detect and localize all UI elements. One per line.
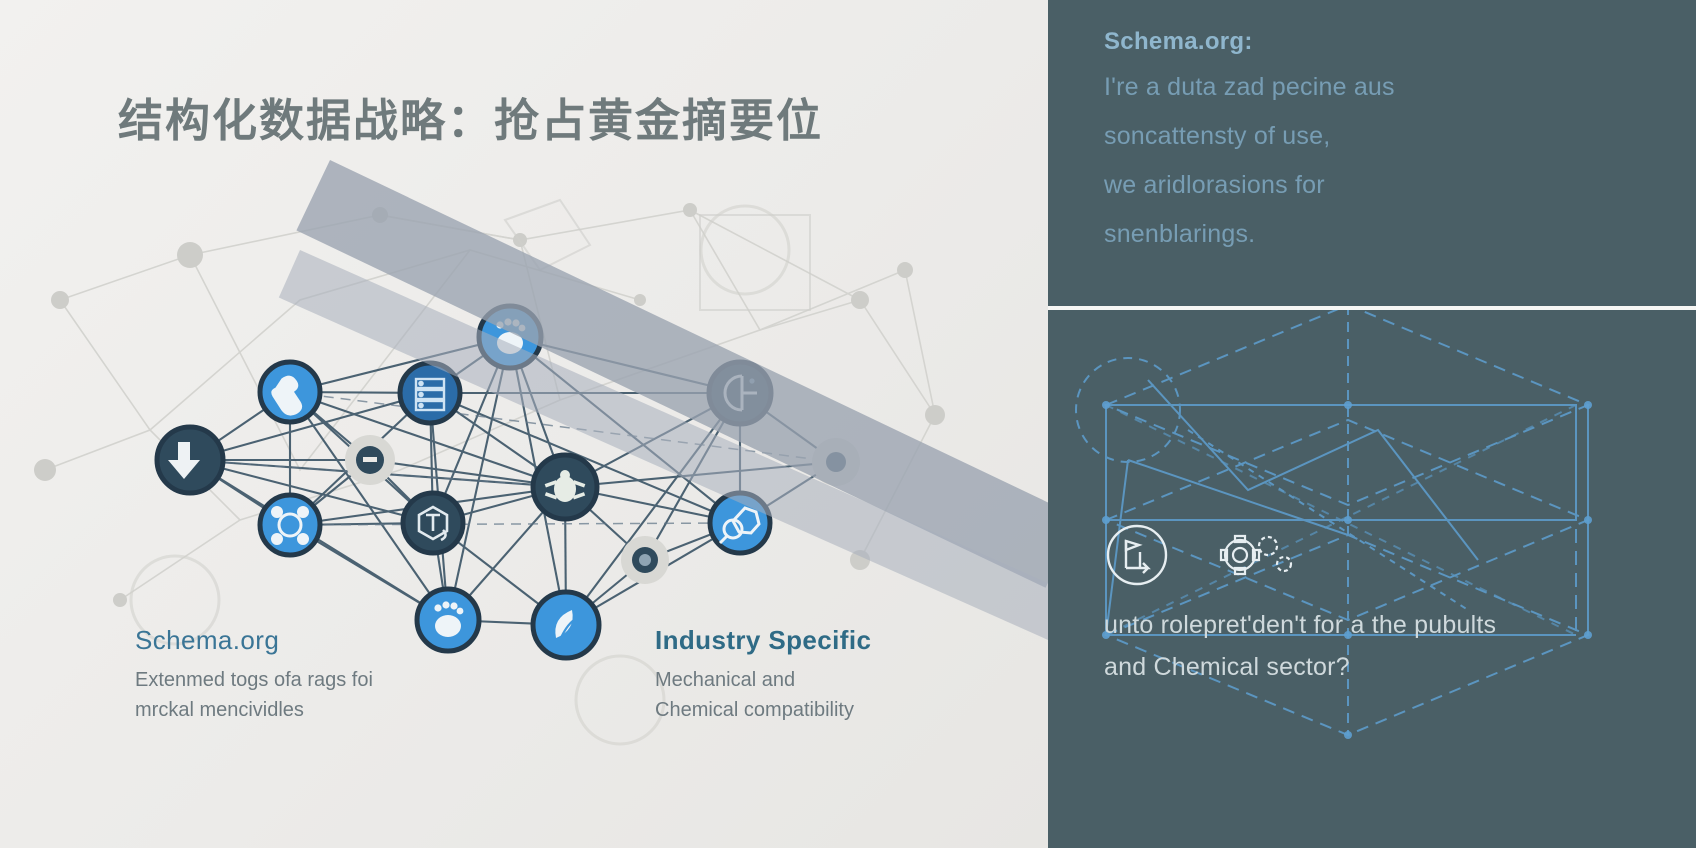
graph-node-paw-print-icon[interactable] bbox=[417, 589, 479, 651]
graph-node-gear-network-icon[interactable] bbox=[260, 495, 320, 555]
graph-node-shield-refresh-icon[interactable] bbox=[403, 493, 463, 553]
graph-node-inactive bbox=[345, 435, 395, 485]
caption-line: mrckal mencividles bbox=[135, 695, 373, 725]
right-panel-bottom: unto rolepret'den't for a the pubults an… bbox=[1048, 310, 1696, 848]
caption-line: Extenmed togs ofa rags foi bbox=[135, 665, 373, 695]
right-column: Schema.org: I're a duta zad pecine aus s… bbox=[1048, 0, 1696, 848]
caption-line: Chemical compatibility bbox=[655, 695, 871, 725]
graph-node-inactive bbox=[621, 536, 669, 584]
caption-industry-specific: Industry Specific Mechanical and Chemica… bbox=[655, 625, 871, 725]
graph-node-bug-icon[interactable] bbox=[533, 455, 597, 519]
graph-node-leaf-icon[interactable] bbox=[533, 592, 599, 658]
caption-heading: Industry Specific bbox=[655, 625, 871, 656]
right-panel-footer: unto rolepret'den't for a the pubults an… bbox=[1104, 608, 1684, 692]
graph-node-download-arrow-icon[interactable] bbox=[157, 427, 223, 493]
body-line: snenblarings. bbox=[1104, 219, 1664, 250]
background-links bbox=[45, 210, 935, 600]
icon-row bbox=[1104, 522, 1302, 588]
right-panel-top: Schema.org: I're a duta zad pecine aus s… bbox=[1048, 0, 1696, 306]
slide-root: 结构化数据战略：抢占黄金摘要位 bbox=[0, 0, 1696, 848]
body-line: soncattensty of use, bbox=[1104, 121, 1664, 152]
left-panel: 结构化数据战略：抢占黄金摘要位 bbox=[0, 0, 1048, 848]
caption-schema-org: Schema.org Extenmed togs ofa rags foi mr… bbox=[135, 625, 373, 725]
graph-node-hand-pointer-icon[interactable] bbox=[260, 362, 320, 422]
background-nodes bbox=[34, 203, 945, 607]
footer-line: and Chemical sector? bbox=[1104, 650, 1684, 684]
graph-node-battery-half-icon[interactable] bbox=[709, 362, 771, 424]
gears-icon bbox=[1210, 524, 1302, 586]
graph-node-inactive bbox=[812, 438, 860, 486]
caption-heading: Schema.org bbox=[135, 625, 373, 656]
body-line: I're a duta zad pecine aus bbox=[1104, 72, 1664, 103]
right-panel-heading: Schema.org: bbox=[1104, 28, 1253, 56]
body-line: we aridlorasions for bbox=[1104, 170, 1664, 201]
flag-route-icon bbox=[1104, 522, 1170, 588]
footer-line: unto rolepret'den't for a the pubults bbox=[1104, 608, 1684, 642]
caption-line: Mechanical and bbox=[655, 665, 871, 695]
right-panel-body: I're a duta zad pecine aus soncattensty … bbox=[1104, 72, 1664, 268]
